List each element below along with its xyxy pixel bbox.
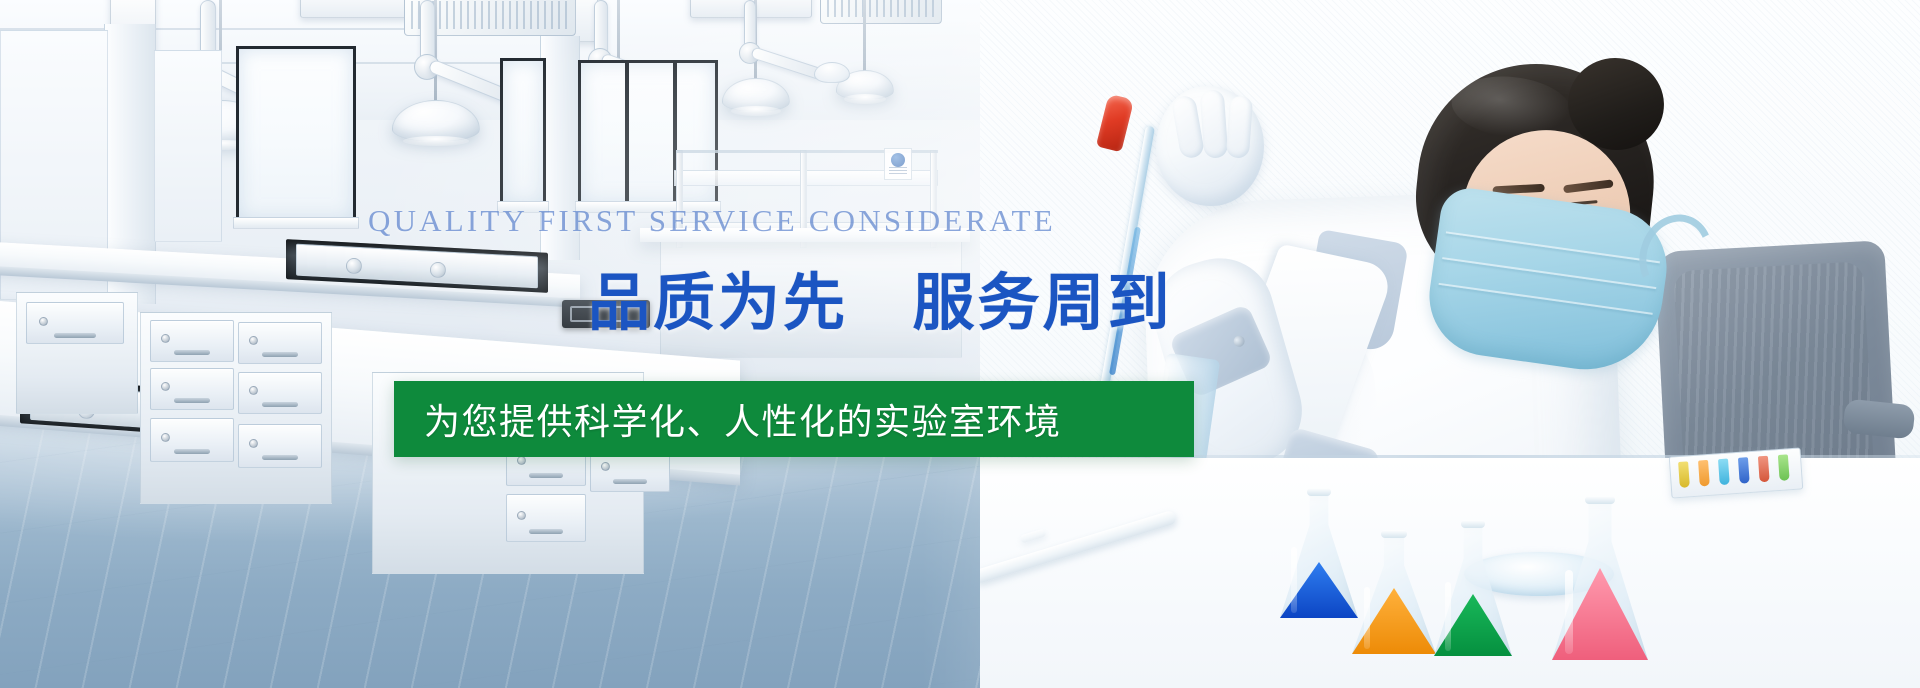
flask-highlight (1565, 570, 1573, 653)
lab-hero-banner: QUALITY FIRST SERVICE CONSIDERATE 品质为先 服… (0, 0, 1920, 688)
mask-pleat (1442, 257, 1656, 289)
bench-knob (430, 262, 446, 278)
bench-drawer (506, 494, 586, 542)
scientist-scene (980, 0, 1920, 688)
window-mullion (625, 63, 629, 203)
drawer-lock (161, 382, 170, 391)
drawer-handle (174, 398, 210, 403)
drawer-lock (601, 407, 610, 416)
rack-tube (1778, 454, 1790, 481)
flask-rim (1461, 520, 1486, 528)
bench-drawer (150, 368, 234, 410)
bench-drawer (238, 424, 322, 468)
drawer-handle (529, 473, 563, 478)
rack-tube (1718, 459, 1730, 486)
fume-extraction-arm (726, 0, 876, 110)
sign-disc-icon (891, 153, 905, 167)
mask-pleat (1446, 231, 1660, 263)
wall-safety-sign (884, 148, 912, 180)
drawer-handle (262, 455, 298, 460)
drawer-lock (601, 462, 610, 471)
back-bench-cabinet (660, 236, 962, 358)
drawer-lock (39, 317, 48, 326)
wall-panel (154, 50, 222, 242)
flask-rim (1381, 530, 1408, 538)
glove-finger (1226, 95, 1253, 158)
drawer-handle (262, 352, 298, 357)
flask-highlight (1445, 582, 1451, 651)
bench-drawer (238, 322, 322, 364)
drawer-handle (262, 402, 298, 407)
sign-text-lines (889, 167, 907, 174)
cuff-button (1232, 334, 1247, 349)
eyebrow-right (1563, 179, 1614, 193)
drawer-lock (249, 336, 258, 345)
bench-drawer (238, 372, 322, 414)
bench-drawer (506, 440, 586, 486)
bench-drawer (506, 388, 586, 432)
drawer-handle (529, 529, 563, 534)
drawer-lock (517, 456, 526, 465)
flask-rim (1585, 496, 1616, 504)
bench-knob (346, 258, 362, 274)
drawer-lock (161, 433, 170, 442)
drawer-handle (529, 420, 563, 425)
arm-hood (814, 62, 850, 83)
rack-tube (1698, 460, 1710, 487)
drawer-lock (249, 386, 258, 395)
erlenmeyer-flask-blue (1280, 492, 1358, 618)
drawer-handle (613, 424, 647, 429)
erlenmeyer-flask-pink (1552, 500, 1648, 660)
bench-drawer (590, 446, 670, 492)
bench-drawer (150, 320, 234, 362)
rack-tube (1738, 457, 1750, 484)
window (236, 46, 356, 222)
erlenmeyer-flask-green (1434, 524, 1512, 656)
bench-drawer (26, 302, 124, 344)
rack-tube (1758, 456, 1770, 483)
erlenmeyer-flask-orange (1352, 534, 1436, 654)
back-bench-top (640, 228, 970, 242)
flask-rim (1307, 488, 1332, 496)
window (500, 58, 546, 206)
drawer-lock (517, 511, 526, 520)
drawer-handle (613, 479, 647, 484)
drawer-handle (174, 449, 210, 454)
drawer-handle (54, 333, 96, 338)
drawer-lock (249, 439, 258, 448)
glove-finger (1200, 89, 1229, 159)
flask-highlight (1364, 587, 1371, 649)
bench-power-socket (562, 300, 650, 328)
flask-highlight (1291, 547, 1297, 613)
drawer-lock (517, 403, 526, 412)
bench-drawer (590, 392, 670, 436)
wall-column (540, 36, 580, 260)
mask-pleat (1439, 283, 1653, 315)
drawer-lock (161, 334, 170, 343)
rack-tube (1678, 461, 1690, 488)
bench-drawer (150, 418, 234, 462)
drawer-handle (174, 350, 210, 355)
